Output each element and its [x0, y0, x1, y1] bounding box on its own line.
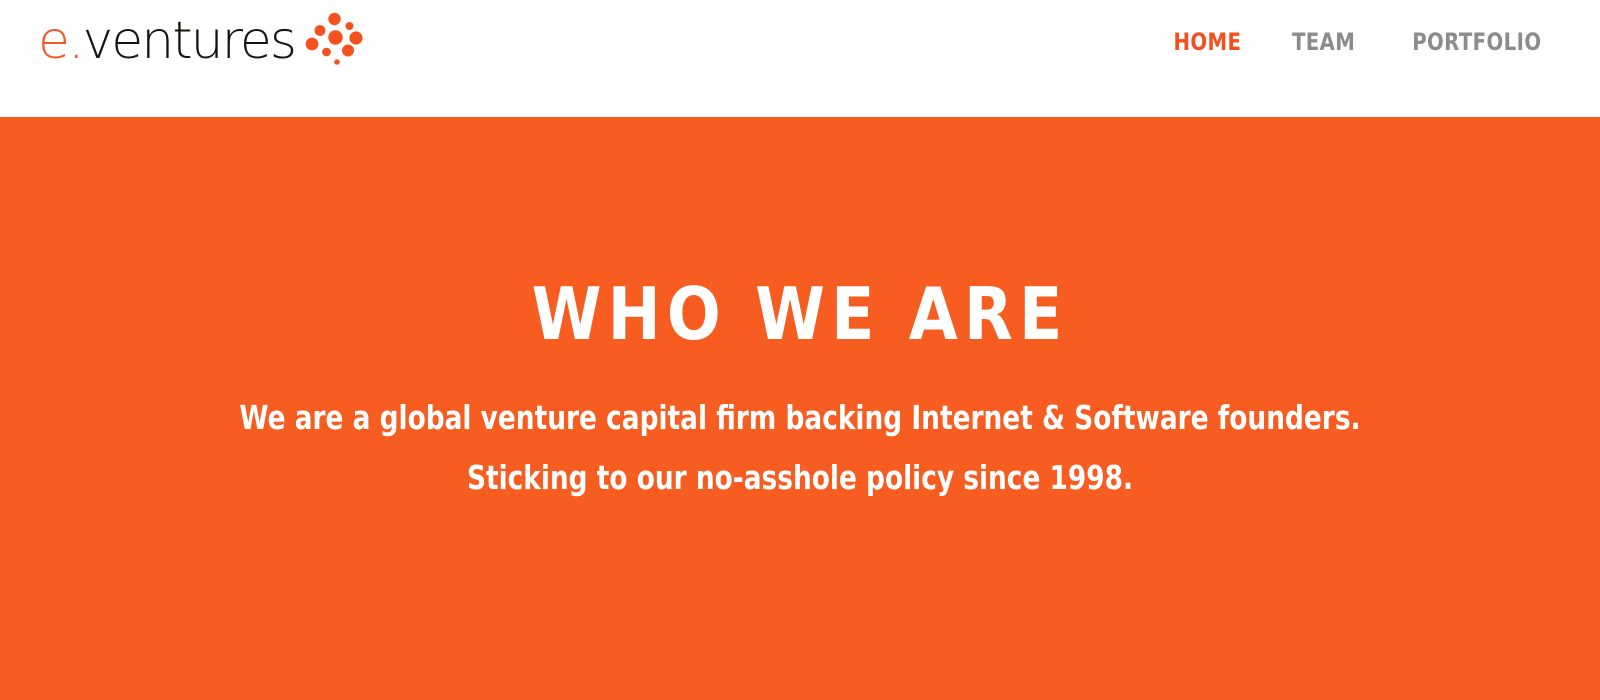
- site-logo[interactable]: e.ventures: [38, 14, 364, 68]
- nav-item-home[interactable]: HOME: [1174, 30, 1242, 54]
- site-header: e.ventures HOME TEAM PORTFOLIO: [0, 0, 1600, 117]
- hero-content: WHO WE ARE We are a global venture capit…: [0, 117, 1600, 508]
- hero-title: WHO WE ARE: [96, 278, 1504, 350]
- nav-item-team[interactable]: TEAM: [1292, 30, 1355, 54]
- nav-item-portfolio[interactable]: PORTFOLIO: [1413, 30, 1542, 54]
- logo-dot: .: [68, 11, 83, 71]
- dot-cluster-icon: [304, 12, 364, 68]
- hero-subtitle-line-1: We are a global venture capital firm bac…: [160, 388, 1440, 448]
- main-navigation: HOME TEAM PORTFOLIO: [1166, 30, 1556, 54]
- logo-wordmark: e.ventures: [38, 15, 295, 67]
- logo-word-ventures: ventures: [83, 11, 295, 71]
- hero-subtitle-line-2: Sticking to our no-asshole policy since …: [160, 448, 1440, 508]
- logo-letter-e: e: [38, 11, 68, 71]
- page-root: e.ventures HOME TEAM PORTFOLIO: [0, 0, 1600, 700]
- hero-subtitle: We are a global venture capital firm bac…: [160, 388, 1440, 508]
- hero-section: WHO WE ARE We are a global venture capit…: [0, 117, 1600, 700]
